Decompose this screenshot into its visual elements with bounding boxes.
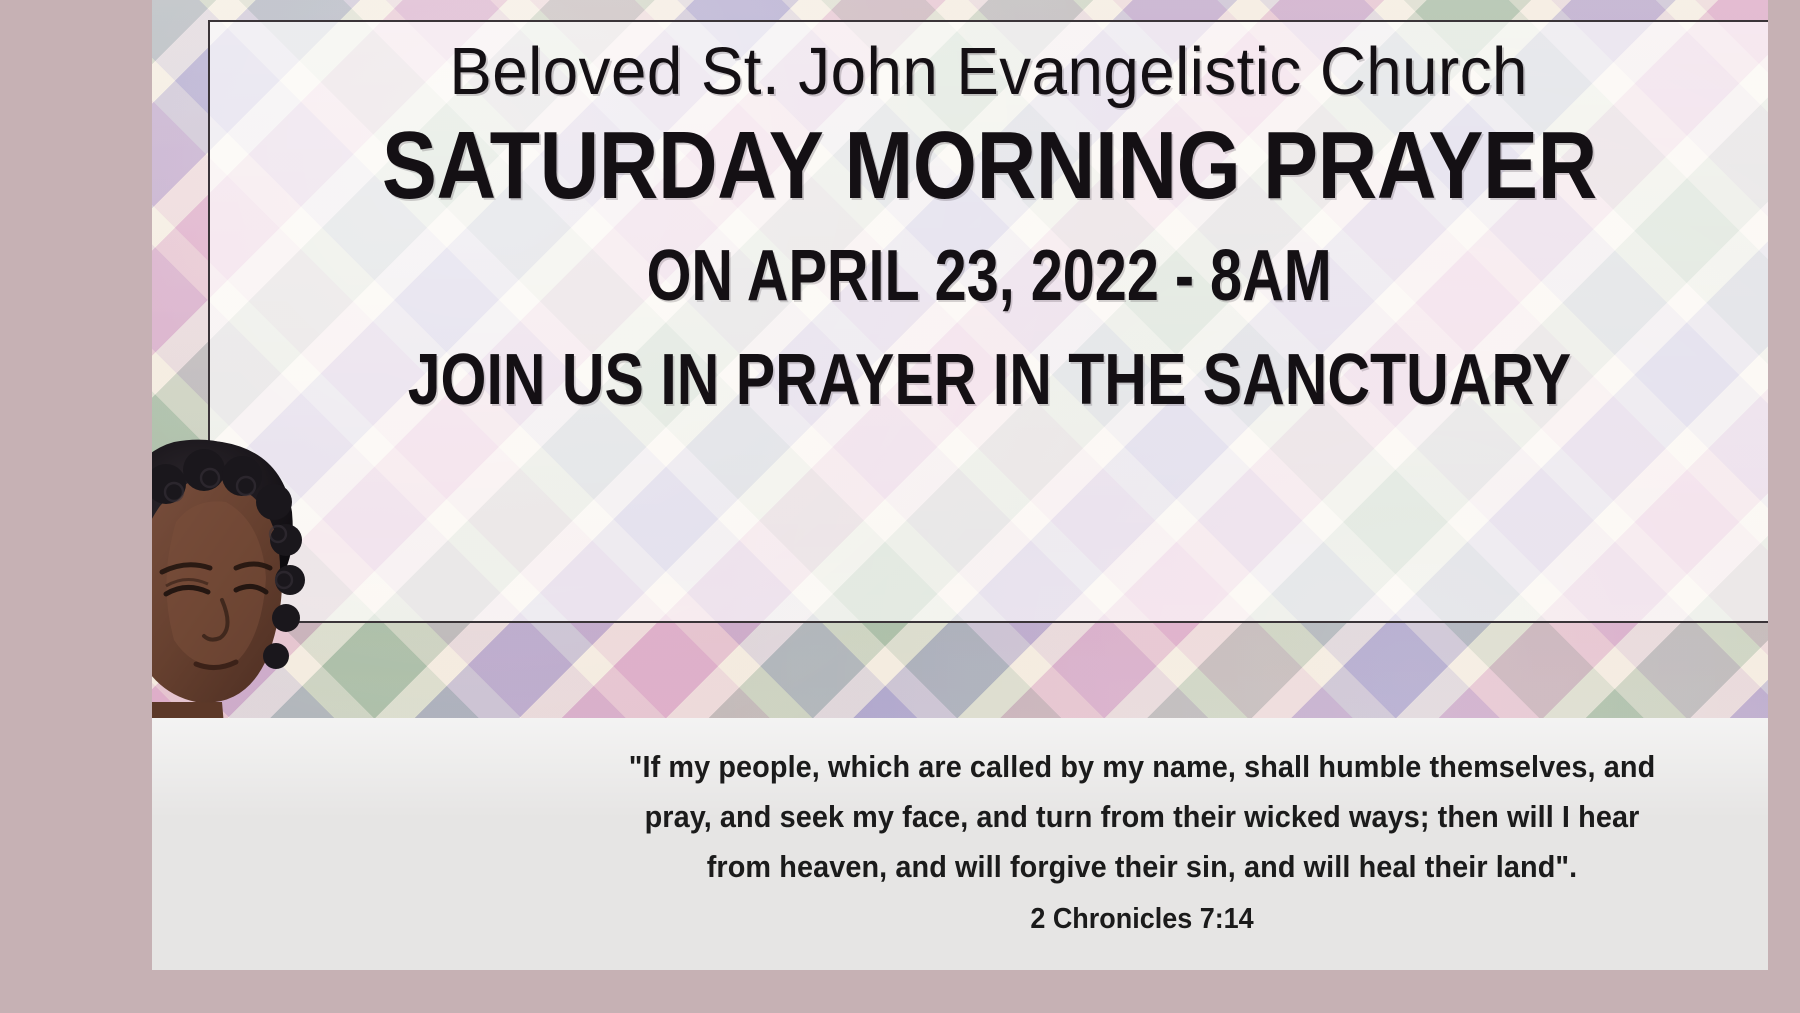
scripture-line-1: "If my people, which are called by my na… [621, 742, 1663, 792]
scripture-reference: 2 Chronicles 7:14 [621, 896, 1663, 942]
church-name: Beloved St. John Evangelistic Church [450, 38, 1529, 105]
event-invitation: JOIN US IN PRAYER IN THE SANCTUARY [407, 343, 1570, 419]
event-headline: SATURDAY MORNING PRAYER [382, 117, 1597, 215]
headline-copy-block: Beloved St. John Evangelistic Church SAT… [208, 20, 1770, 623]
mat-border-bottom [0, 970, 1800, 1013]
mat-border-right [1768, 0, 1800, 1013]
scripture-line-3: from heaven, and will forgive their sin,… [621, 842, 1663, 892]
scripture-band: "If my people, which are called by my na… [152, 718, 1768, 970]
scripture-text-block: "If my people, which are called by my na… [582, 742, 1702, 942]
mat-border-left [0, 0, 152, 1013]
event-date-time: ON APRIL 23, 2022 - 8AM [646, 239, 1331, 315]
scripture-line-2: pray, and seek my face, and turn from th… [621, 792, 1663, 842]
prayer-event-flyer: Beloved St. John Evangelistic Church SAT… [0, 0, 1800, 1013]
